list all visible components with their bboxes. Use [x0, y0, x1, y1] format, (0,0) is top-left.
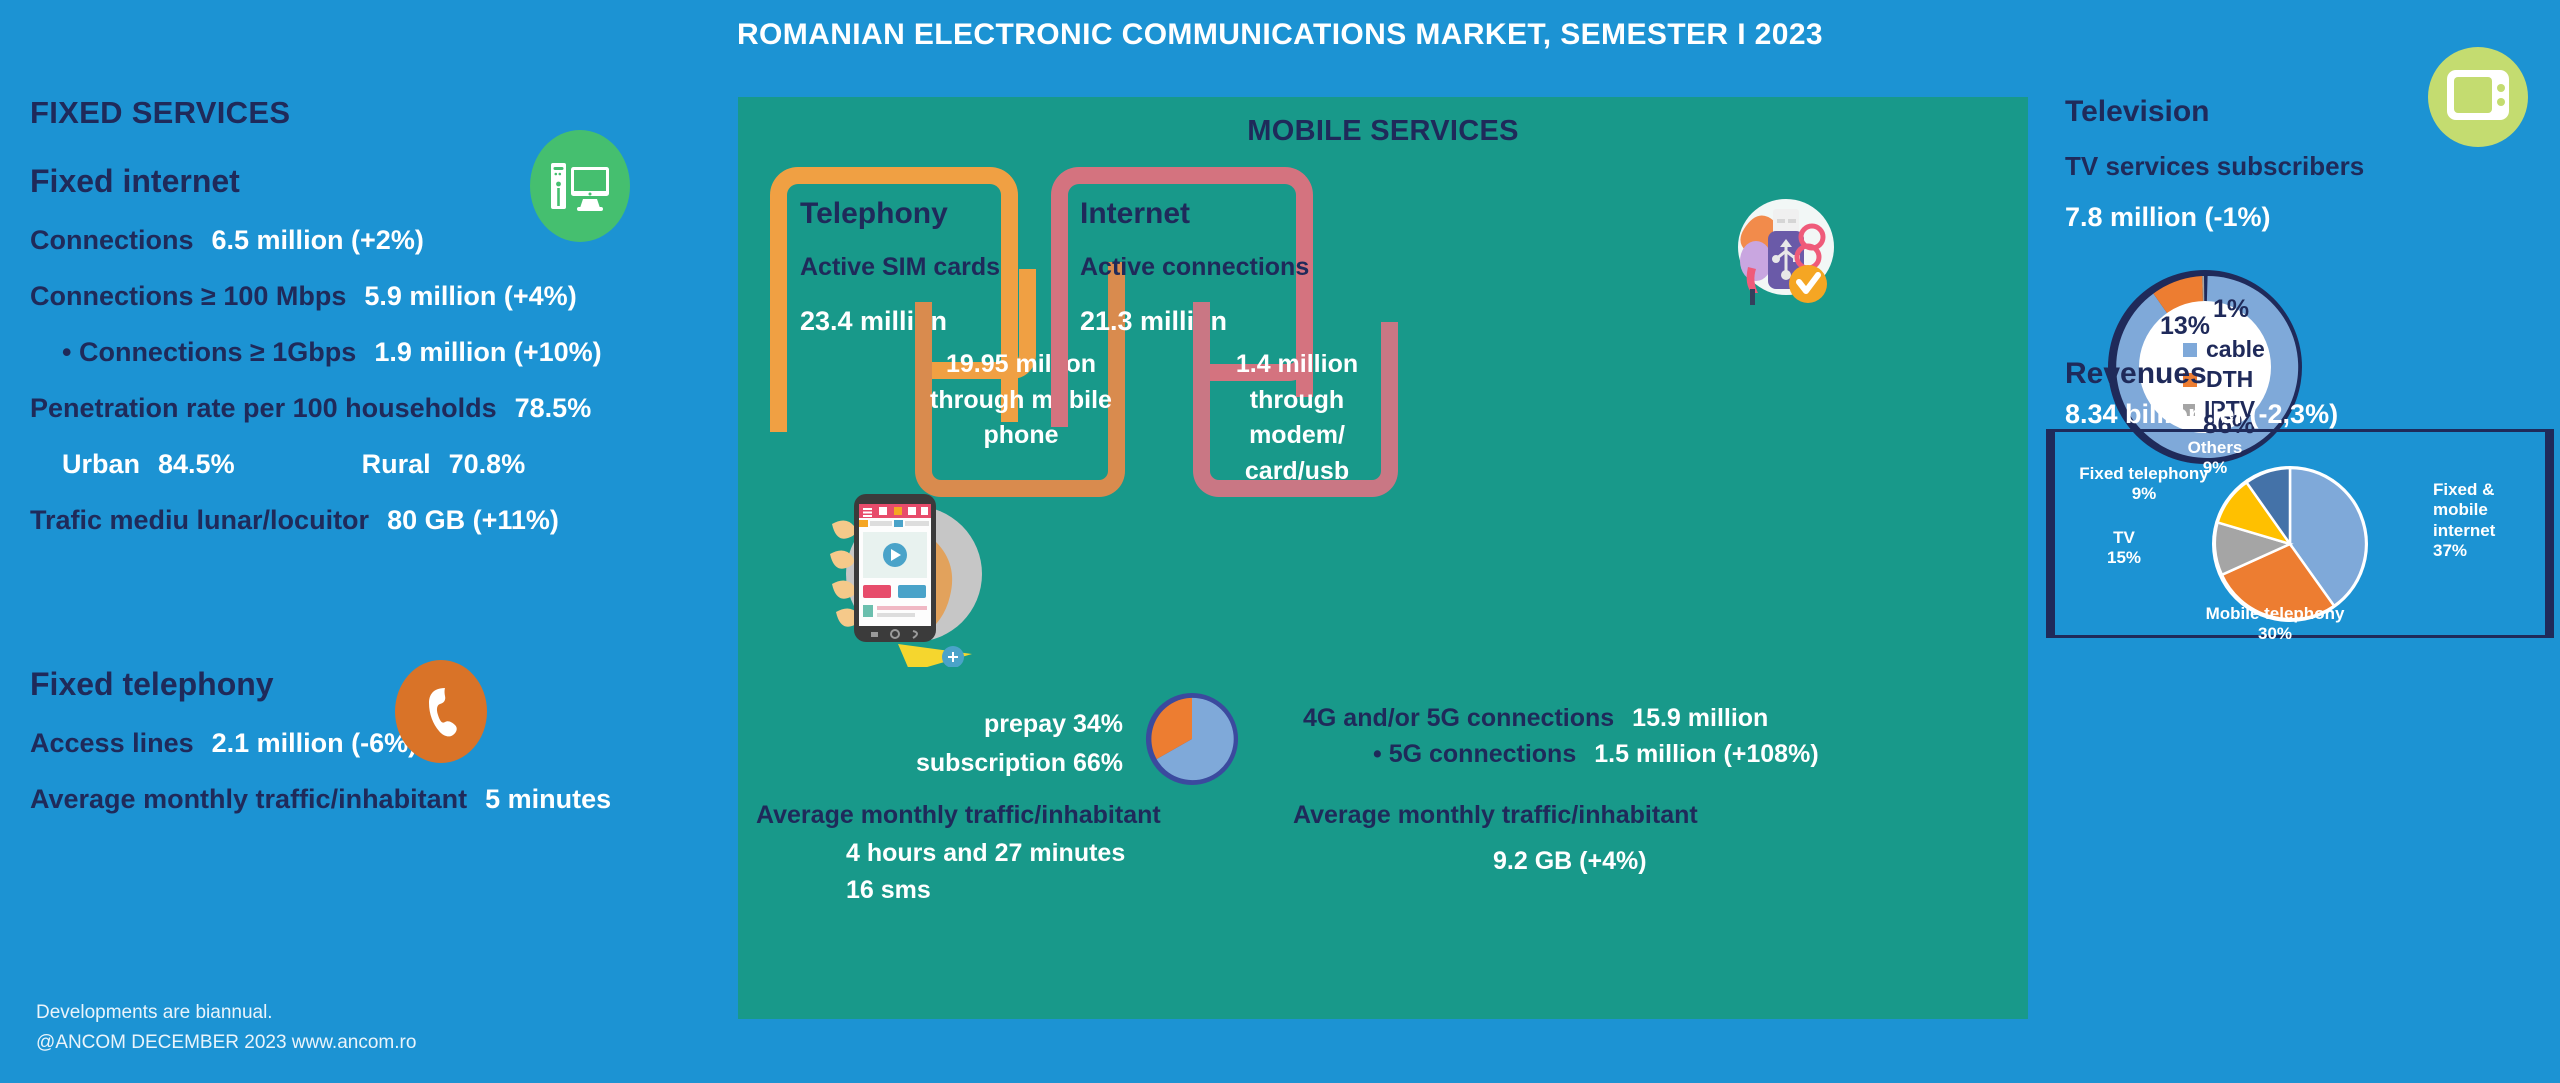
label-value: 30%	[2258, 624, 2292, 643]
label-text: Fixed telephony	[2079, 464, 2208, 483]
internet-sub-bracket-left-top	[1193, 302, 1210, 330]
label-value: 9%	[2132, 484, 2157, 503]
row-label: Average monthly traffic/inhabitant	[30, 784, 467, 814]
row-label: Penetration rate per 100 households	[30, 393, 497, 423]
label-value: 15%	[2107, 548, 2141, 567]
traffic-label: Average monthly traffic/inhabitant	[1293, 797, 1853, 835]
row-value: 2.1 million (-6%)	[212, 728, 418, 758]
4g5g-connections-row: 4G and/or 5G connections15.9 million	[1303, 704, 1768, 733]
telephone-handset-icon	[395, 660, 487, 763]
label-text: Mobile telephony	[2206, 604, 2345, 623]
row-value: 15.9 million	[1632, 704, 1768, 732]
row-label: Trafic mediu lunar/locuitor	[30, 505, 369, 535]
mobile-prepay-subscription-pie	[1143, 690, 1241, 788]
mobile-services-heading: MOBILE SERVICES	[738, 115, 2028, 148]
monthly-traffic-row: Trafic mediu lunar/locuitor80 GB (+11%)	[30, 505, 735, 536]
row-value: 5.9 million (+4%)	[364, 281, 576, 311]
row-value: 1.5 million (+108%)	[1594, 740, 1818, 768]
traffic-label: Average monthly traffic/inhabitant	[756, 797, 1336, 835]
fixed-internet-1gbps-row: • Connections ≥ 1Gbps1.9 million (+10%)	[62, 337, 735, 368]
prepay-label: prepay 34%	[793, 705, 1123, 744]
tv-subscribers-label: TV services subscribers	[2065, 151, 2560, 182]
usb-modem-illustration	[1726, 189, 1846, 309]
telephony-subtitle: Active SIM cards	[800, 253, 1015, 282]
fixed-telephony-heading: Fixed telephony	[30, 666, 735, 703]
revenues-label-tv: TV 15%	[2083, 528, 2165, 569]
fixed-services-heading: FIXED SERVICES	[30, 95, 735, 131]
mobile-internet-traffic-block: Average monthly traffic/inhabitant 9.2 G…	[1293, 797, 1853, 880]
access-lines-row: Access lines2.1 million (-6%)	[30, 728, 735, 759]
row-value: 78.5%	[515, 393, 592, 423]
label-text: Others	[2188, 438, 2243, 457]
traffic-value-2: 16 sms	[846, 872, 1336, 910]
row-value: 5 minutes	[485, 784, 611, 814]
mobile-telephony-traffic-block: Average monthly traffic/inhabitant 4 hou…	[756, 797, 1336, 910]
row-value: 6.5 million (+2%)	[212, 225, 424, 255]
revenues-label-fixed-telephony: Fixed telephony 9%	[2059, 464, 2229, 505]
urban-value: 84.5%	[158, 449, 235, 479]
internet-bracket-left-leg	[1051, 392, 1068, 427]
fixed-internet-connections-row: Connections6.5 million (+2%)	[30, 225, 735, 256]
internet-subtitle: Active connections	[1080, 253, 1310, 282]
internet-sub-value: 1.4 million through modem/ card/usb	[1208, 347, 1386, 489]
rural-label: Rural	[362, 449, 431, 479]
footer-line-2: @ANCOM DECEMBER 2023 www.ancom.ro	[36, 1028, 416, 1057]
page-title: ROMANIAN ELECTRONIC COMMUNICATIONS MARKE…	[0, 18, 2560, 52]
revenues-value: 8.34 billion lei (-2,3%)	[2065, 399, 2338, 430]
telephony-sub-bracket-left-top	[915, 302, 932, 330]
5g-connections-row: • 5G connections1.5 million (+108%)	[1373, 740, 1819, 769]
revenues-pie	[2210, 464, 2370, 624]
penetration-urban-rural-row: Urban84.5% Rural70.8%	[62, 449, 735, 480]
tv-subscribers-value: 7.8 million (-1%)	[2065, 202, 2560, 233]
fixed-telephony-traffic-row: Average monthly traffic/inhabitant5 minu…	[30, 784, 735, 815]
internet-title: Internet	[1080, 197, 1310, 231]
row-value: 1.9 million (+10%)	[374, 337, 601, 367]
penetration-rate-row: Penetration rate per 100 households78.5%	[30, 393, 735, 424]
rural-value: 70.8%	[449, 449, 526, 479]
row-label: 4G and/or 5G connections	[1303, 704, 1614, 732]
urban-label: Urban	[62, 449, 140, 479]
revenues-heading: Revenues	[2065, 357, 2338, 391]
mobile-services-panel: MOBILE SERVICES Telephony Active SIM car…	[738, 97, 2028, 1019]
telephony-card: Telephony Active SIM cards 23.4 million	[800, 197, 1015, 337]
pie-svg	[2210, 464, 2370, 624]
row-label: • 5G connections	[1373, 740, 1576, 768]
row-label: Access lines	[30, 728, 194, 758]
telephony-bracket-left-leg	[770, 392, 787, 432]
infographic-root: ROMANIAN ELECTRONIC COMMUNICATIONS MARKE…	[0, 0, 2560, 1083]
fixed-internet-100mbps-row: Connections ≥ 100 Mbps5.9 million (+4%)	[30, 281, 735, 312]
row-value: 80 GB (+11%)	[387, 505, 559, 535]
prepay-subscription-block: prepay 34% subscription 66%	[793, 705, 1123, 783]
label-value: 37%	[2433, 541, 2467, 560]
label-text: TV	[2113, 528, 2135, 547]
footer-credits: Developments are biannual. @ANCOM DECEMB…	[36, 998, 416, 1057]
row-label: • Connections ≥ 1Gbps	[62, 337, 356, 367]
hand-holding-smartphone-illustration	[818, 482, 1008, 667]
label-text: Fixed & mobile internet	[2433, 480, 2495, 540]
pie-svg	[1143, 690, 1241, 788]
revenues-label-mobile-telephony: Mobile telephony 30%	[2175, 604, 2375, 645]
desktop-computer-icon	[530, 130, 630, 242]
traffic-value-1: 9.2 GB (+4%)	[1493, 843, 1853, 881]
subscription-label: subscription 66%	[793, 744, 1123, 783]
internet-sub-value-text: 1.4 million through modem/ card/usb	[1236, 350, 1358, 485]
donut-label-iptv: 1%	[2213, 295, 2249, 324]
row-label: Connections	[30, 225, 194, 255]
revenues-chart-box: Others 9% Fixed telephony 9% TV 15% Mobi…	[2046, 429, 2554, 638]
revenues-header: Revenues 8.34 billion lei (-2,3%)	[2045, 357, 2338, 430]
footer-line-1: Developments are biannual.	[36, 998, 416, 1027]
row-label: Connections ≥ 100 Mbps	[30, 281, 346, 311]
traffic-value-1: 4 hours and 27 minutes	[846, 835, 1336, 873]
revenues-label-fixed-mobile-internet: Fixed & mobile internet 37%	[2433, 480, 2551, 562]
telephony-title: Telephony	[800, 197, 1015, 231]
television-set-icon	[2428, 47, 2528, 147]
legend-swatch-cable	[2183, 343, 2197, 357]
television-revenues-section: Television TV services subscribers 7.8 m…	[2045, 95, 2560, 233]
